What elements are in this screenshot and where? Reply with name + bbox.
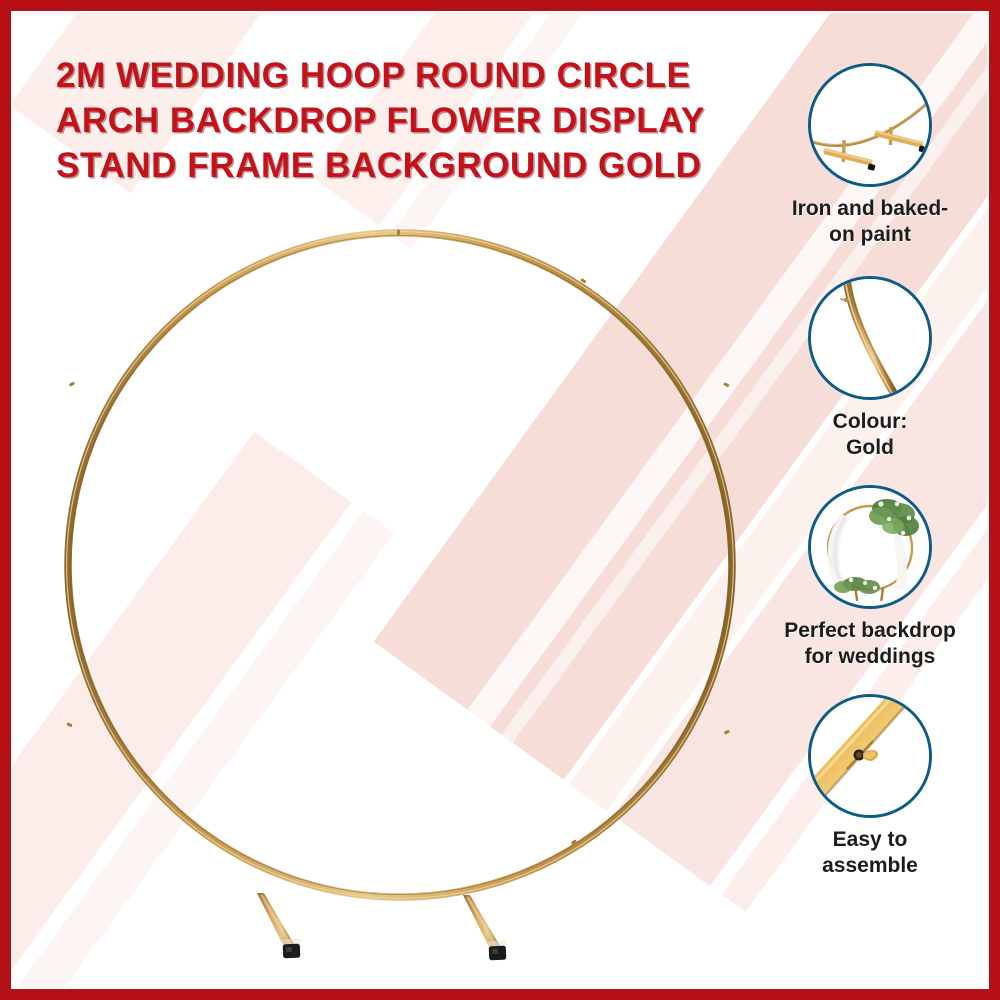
feature-label-line-2: Gold	[846, 436, 894, 459]
image-canvas: 2M WEDDING HOOP ROUND CIRCLE ARCH BACKDR…	[11, 11, 989, 989]
decorated-wedding-hoop-photo-icon	[808, 485, 932, 609]
feature-iron-baked-paint: Iron and baked- on paint	[751, 63, 989, 248]
feature-label-perfect-backdrop: Perfect backdrop for weddings	[765, 618, 975, 670]
feature-label-line-2: for weddings	[805, 645, 936, 668]
feature-label-line-1: Colour:	[833, 410, 908, 433]
rod-connector-screw-photo-icon	[808, 694, 932, 818]
product-listing-image: 2M WEDDING HOOP ROUND CIRCLE ARCH BACKDR…	[0, 0, 1000, 1000]
feature-label-line-1: Iron and baked-	[792, 197, 948, 220]
hoop-base-feet-photo-icon	[808, 63, 932, 187]
feature-label-line-1: Perfect backdrop	[784, 619, 956, 642]
feature-label-line-2: assemble	[822, 854, 918, 877]
feature-colour-gold: Colour: Gold	[751, 276, 989, 461]
feature-easy-assemble: Easy to assemble	[751, 694, 989, 879]
feature-label-colour-gold: Colour: Gold	[765, 409, 975, 461]
title-line-3: STAND FRAME BACKGROUND GOLD	[56, 143, 756, 188]
stand-leg-right	[463, 895, 507, 960]
feature-callout-list: Iron and baked- on paint	[751, 11, 989, 989]
title-line-2: ARCH BACKDROP FLOWER DISPLAY	[56, 98, 756, 143]
feature-label-iron-baked-paint: Iron and baked- on paint	[765, 196, 975, 248]
product-title: 2M WEDDING HOOP ROUND CIRCLE ARCH BACKDR…	[56, 53, 756, 188]
hoop-ring	[68, 233, 732, 897]
gold-rod-closeup-photo-icon	[808, 276, 932, 400]
feature-label-easy-assemble: Easy to assemble	[765, 827, 975, 879]
feature-perfect-backdrop: Perfect backdrop for weddings	[751, 485, 989, 670]
feature-label-line-2: on paint	[829, 223, 911, 246]
title-line-1: 2M WEDDING HOOP ROUND CIRCLE	[56, 53, 756, 98]
stand-leg-left	[257, 893, 301, 958]
feature-label-line-1: Easy to	[833, 828, 908, 851]
